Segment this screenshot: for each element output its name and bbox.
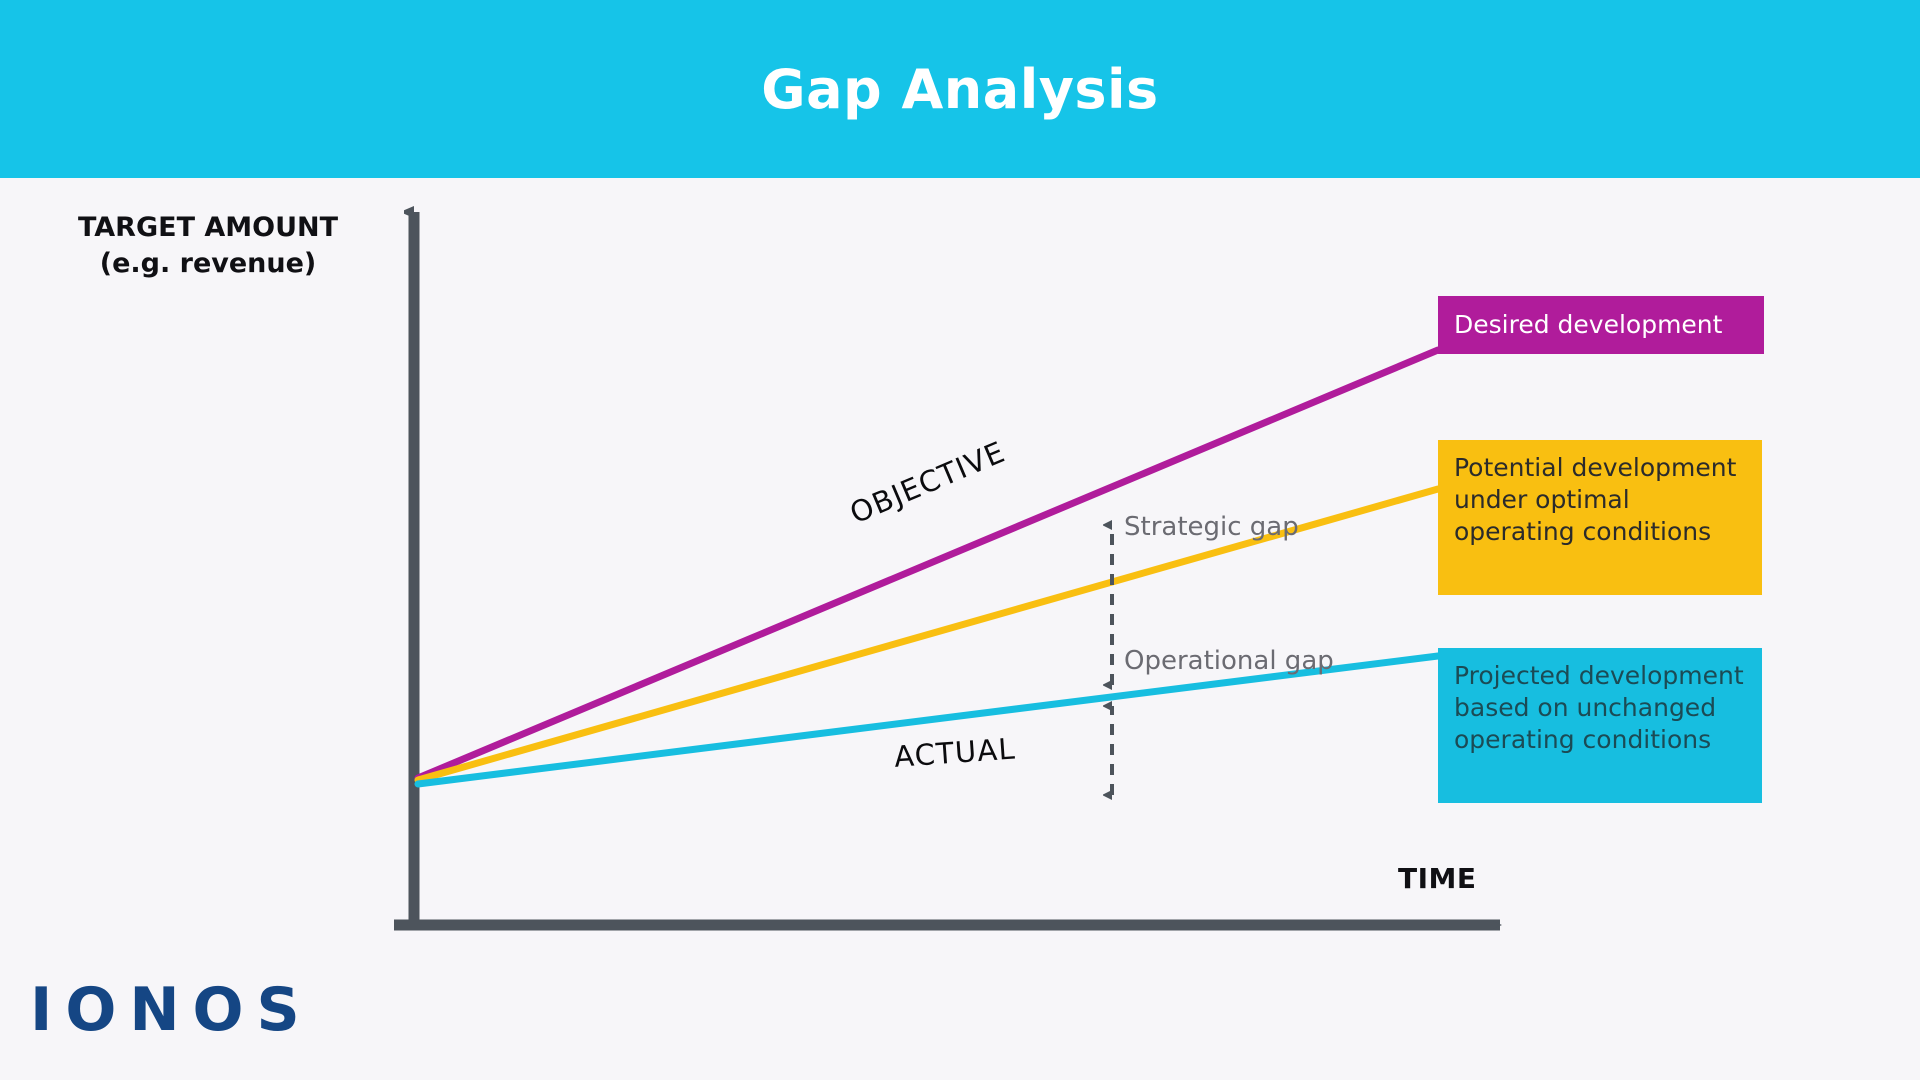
- y-axis-label-line1: TARGET AMOUNT: [28, 210, 388, 246]
- legend-label-desired: Desired development: [1454, 309, 1722, 341]
- x-axis-label: TIME: [1398, 862, 1477, 895]
- legend-label-projected: Projected development based on unchanged…: [1454, 661, 1744, 754]
- y-axis-label-line2: (e.g. revenue): [28, 246, 388, 282]
- legend-item-projected-development: Projected development based on unchanged…: [1438, 648, 1762, 803]
- ionos-logo: IONOS: [30, 975, 313, 1045]
- page-title: Gap Analysis: [0, 0, 1920, 178]
- strategic-gap-label: Strategic gap: [1124, 512, 1299, 542]
- operational-gap-label: Operational gap: [1124, 646, 1334, 676]
- legend-label-potential: Potential development under optimal oper…: [1454, 453, 1736, 546]
- legend-item-potential-development: Potential development under optimal oper…: [1438, 440, 1762, 595]
- gap-analysis-infographic: Gap Analysis: [0, 0, 1920, 1080]
- series-line-desired: [418, 350, 1438, 778]
- legend-item-desired-development: Desired development: [1438, 296, 1764, 354]
- y-axis-label: TARGET AMOUNT (e.g. revenue): [28, 210, 388, 281]
